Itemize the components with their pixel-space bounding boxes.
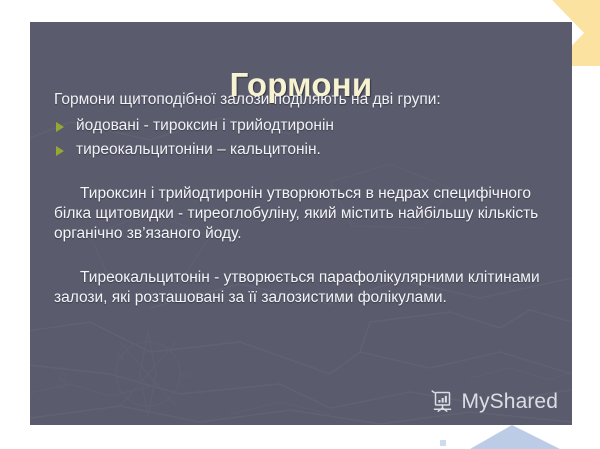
- lead-paragraph: Гормони щитоподібної залози поділяють на…: [54, 90, 556, 110]
- body-paragraph-2: Тиреокальцитонін - утворюється парафолік…: [54, 268, 556, 308]
- slide-page: $ N ste Гормони Гормони щитоподібної зал…: [0, 0, 600, 449]
- list-item-label: тиреокальцитоніни – кальцитонін.: [76, 141, 321, 158]
- presentation-slide: $ N ste Гормони Гормони щитоподібної зал…: [30, 22, 572, 425]
- slide-body: Гормони щитоподібної залози поділяють на…: [54, 90, 556, 308]
- square-dot-decoration: [440, 440, 446, 446]
- triangle-up-icon: [470, 425, 590, 449]
- myshared-label: MyShared: [461, 391, 558, 412]
- body-paragraph-1: Тироксин і трийодтиронін утворюються в н…: [54, 184, 556, 244]
- bullet-list: йодовані - тироксин і трийодтиронін тире…: [54, 114, 556, 162]
- list-item: йодовані - тироксин і трийодтиронін: [54, 114, 556, 138]
- list-item-label: йодовані - тироксин і трийодтиронін: [76, 117, 334, 134]
- flipchart-bar-chart-icon: [430, 389, 454, 413]
- list-item: тиреокальцитоніни – кальцитонін.: [54, 138, 556, 162]
- arrow-right-icon: [56, 122, 64, 132]
- arrow-right-icon: [56, 146, 64, 156]
- myshared-watermark[interactable]: MyShared: [430, 389, 558, 413]
